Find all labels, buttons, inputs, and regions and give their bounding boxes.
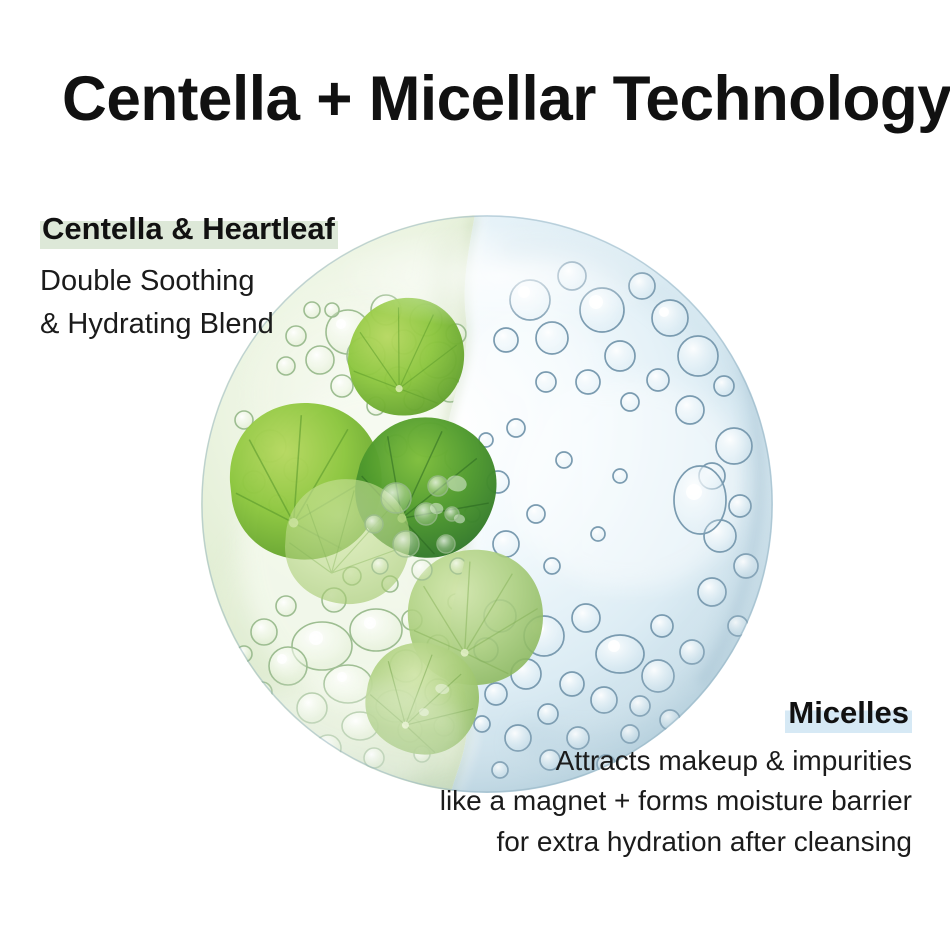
micelles-description-line-3: for extra hydration after cleansing: [272, 822, 912, 863]
centella-caption-block: Centella & Heartleaf Double Soothing & H…: [40, 210, 400, 345]
micelles-description-line-1: Attracts makeup & impurities: [272, 741, 912, 782]
centella-heading: Centella & Heartleaf: [40, 210, 338, 249]
centella-description-line-1: Double Soothing: [40, 261, 400, 302]
micelles-heading: Micelles: [785, 694, 912, 733]
infographic-root: Centella + Micellar Technology Centella …: [0, 0, 950, 950]
micelles-description-line-2: like a magnet + forms moisture barrier: [272, 781, 912, 822]
micelles-caption-block: Micelles Attracts makeup & impurities li…: [272, 694, 912, 863]
centella-description-line-2: & Hydrating Blend: [40, 304, 400, 345]
page-title: Centella + Micellar Technology: [62, 68, 880, 131]
